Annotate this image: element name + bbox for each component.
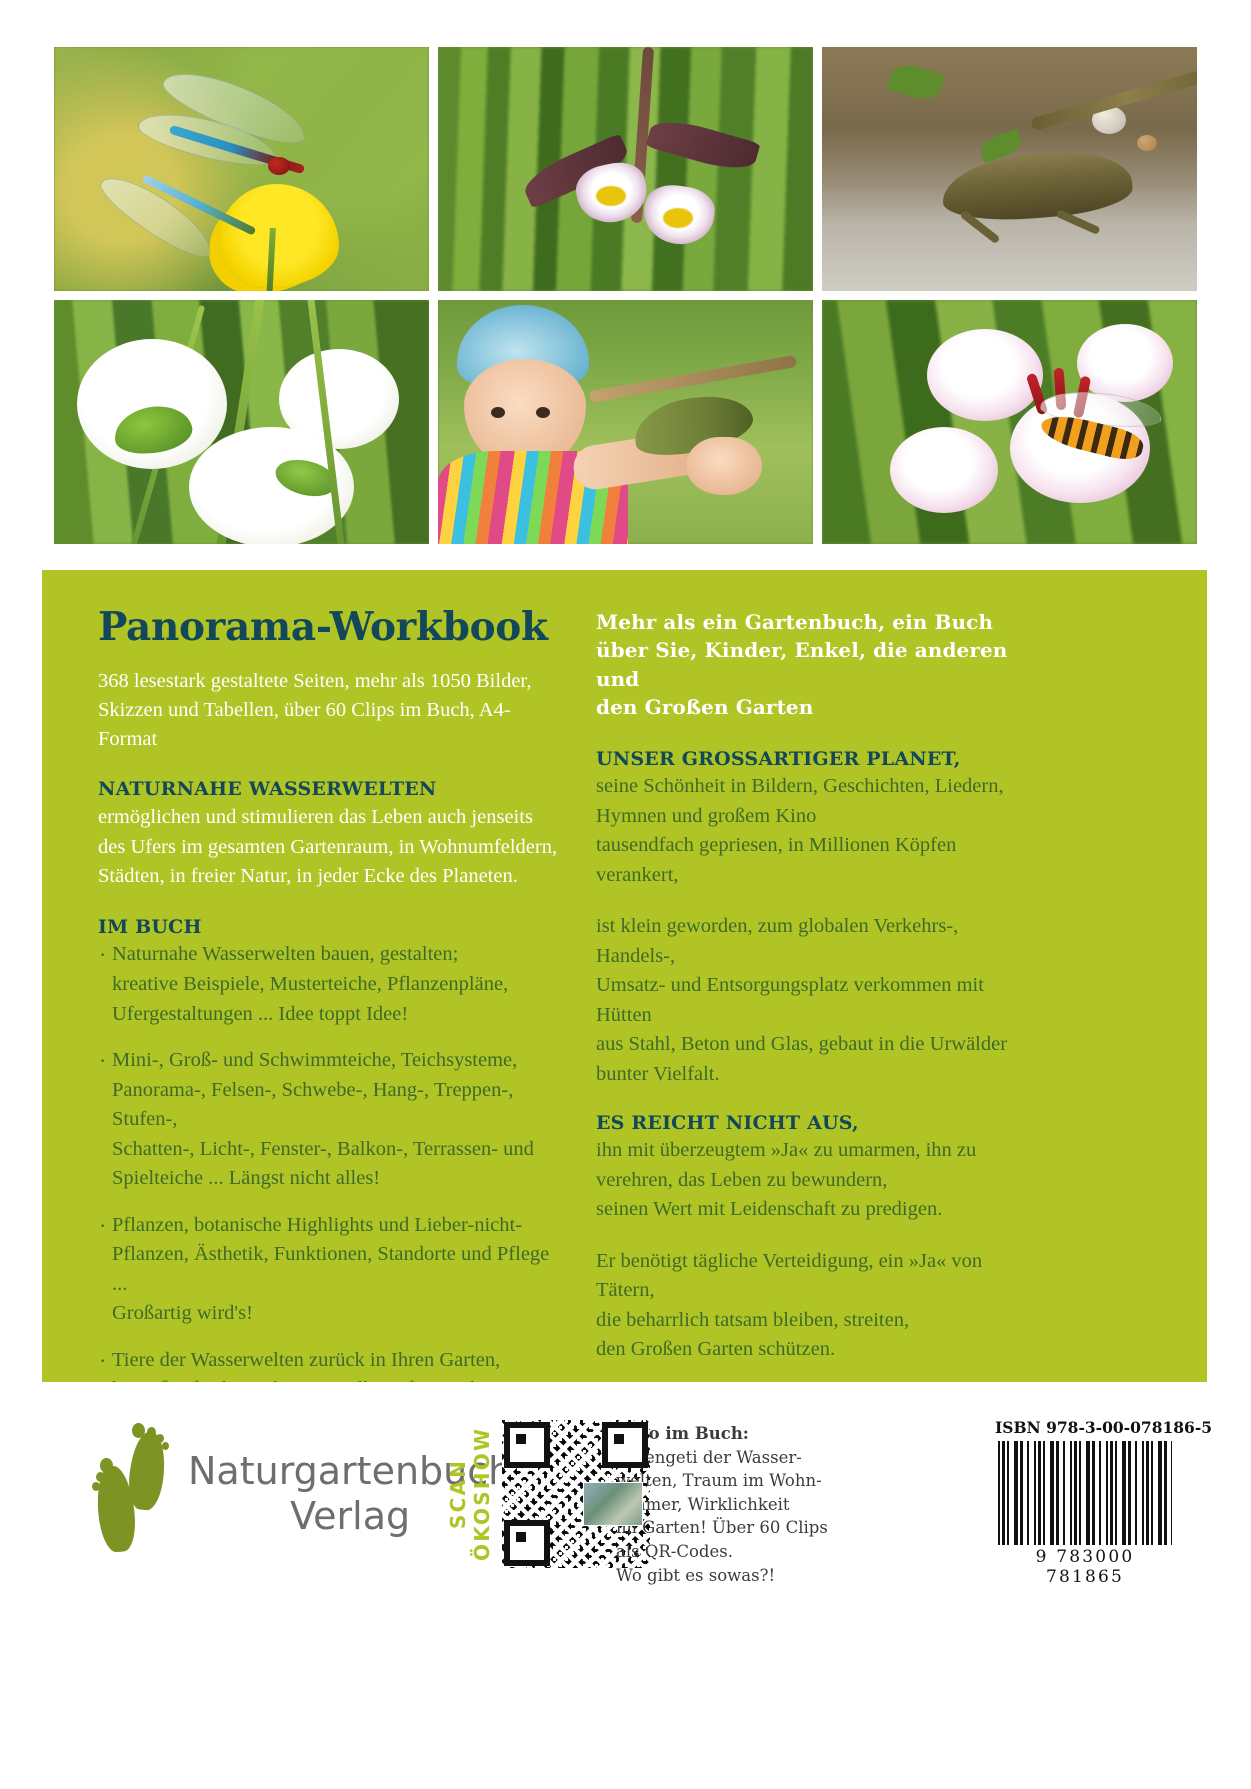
- heading-unser-grossartiger-planet: UNSER GROSSARTIGER PLANET,: [596, 748, 1036, 771]
- qr-finder-icon: [602, 1422, 648, 1468]
- green-info-panel: Panorama-Workbook 368 lesestark gestalte…: [42, 570, 1207, 1382]
- toe: [96, 1472, 105, 1482]
- subtitle: 368 lesestark gestaltete Seiten, mehr al…: [98, 667, 560, 754]
- photo-damselflies-on-yellow-flower: [54, 47, 429, 291]
- claim-heading: Mehr als ein Gartenbuch, ein Buch über S…: [596, 608, 1036, 722]
- toe: [92, 1482, 100, 1491]
- child-eye: [491, 407, 505, 418]
- isbn-number: ISBN 978-3-00-078186-5: [995, 1418, 1175, 1437]
- damselfly-head: [268, 157, 290, 175]
- list-item: Naturnahe Wasserwelten bauen, gestalten;…: [98, 940, 560, 1029]
- footer: Naturgartenbuch Verlag SCAN ÖKOSHOW Kino…: [0, 1382, 1251, 1789]
- paragraph-reicht-2: Er benötigt tägliche Verteidigung, ein »…: [596, 1247, 1036, 1365]
- toe: [100, 1458, 113, 1473]
- flowering-rush-blossom: [890, 427, 998, 513]
- orchid-lip: [596, 186, 626, 206]
- scan-oekoshow-label: SCAN ÖKOSHOW: [446, 1420, 494, 1568]
- toe: [147, 1427, 156, 1437]
- orchid-lip: [663, 208, 693, 228]
- heading-es-reicht-nicht-aus: ES REICHT NICHT AUS,: [596, 1112, 1036, 1135]
- heading-im-buch: IM BUCH: [98, 916, 560, 939]
- list-item: Pflanzen, botanische Highlights und Lieb…: [98, 1211, 560, 1329]
- barcode-digits: 9 783000 781865: [995, 1547, 1175, 1587]
- paragraph-planet-1: seine Schönheit in Bildern, Geschichten,…: [596, 772, 1036, 890]
- qr-embedded-image: [583, 1482, 643, 1526]
- list-item: Mini-, Groß- und Schwimmteiche, Teichsys…: [98, 1046, 560, 1194]
- photo-newt-on-gravel: [822, 47, 1197, 291]
- photo-marsh-orchid: [438, 47, 813, 291]
- barcode-image: [998, 1441, 1172, 1545]
- paragraph-reicht-1: ihn mit überzeugtem »Ja« zu umarmen, ihn…: [596, 1136, 1036, 1225]
- photo-child-holding-frog: [438, 300, 813, 544]
- child-eye: [536, 407, 550, 418]
- kino-text: Serengeti der Wasser- welten, Traum im W…: [616, 1446, 846, 1588]
- paragraph-wasserwelten: ermöglichen und stimulieren das Leben au…: [98, 803, 560, 892]
- child-hand: [686, 437, 762, 495]
- stone: [1137, 135, 1157, 151]
- toe: [132, 1423, 145, 1438]
- flowering-rush-blossom: [927, 329, 1043, 421]
- photo-tree-frog-on-white-flower: [54, 300, 429, 544]
- qr-finder-icon: [504, 1422, 550, 1468]
- qr-finder-icon: [504, 1520, 550, 1566]
- footprints-icon: [96, 1424, 176, 1564]
- heading-naturnahe-wasserwelten: NATURNAHE WASSERWELTEN: [98, 778, 560, 801]
- photo-hoverfly-on-flowering-rush: [822, 300, 1197, 544]
- isbn-block: ISBN 978-3-00-078186-5 9 783000 781865: [995, 1418, 1175, 1587]
- flowering-rush-blossom: [1077, 324, 1173, 402]
- page-title: Panorama-Workbook: [98, 608, 560, 647]
- toe: [162, 1442, 169, 1450]
- photo-grid: [54, 47, 1197, 544]
- paragraph-planet-2: ist klein geworden, zum globalen Verkehr…: [596, 912, 1036, 1089]
- kino-im-buch-block: Kino im Buch: Serengeti der Wasser- welt…: [616, 1422, 846, 1587]
